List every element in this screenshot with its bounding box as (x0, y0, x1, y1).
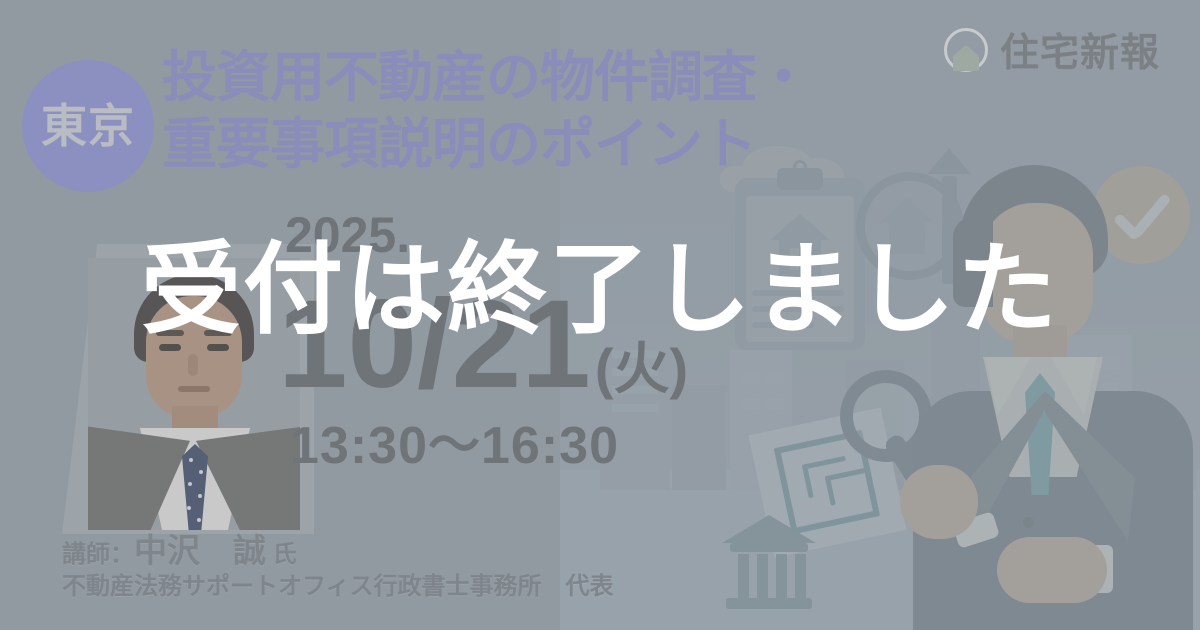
pentagon-in-circle-icon (944, 28, 988, 72)
registration-closed-notice: 受付は終了しました (0, 238, 1200, 343)
brand-logo-text: 住宅新報 (1000, 22, 1160, 78)
businessman-hand (997, 537, 1107, 603)
bank-building-icon (776, 554, 787, 598)
businessman-button (1023, 517, 1034, 528)
speaker-name: 中沢 誠 (134, 532, 266, 569)
bank-building-icon (726, 598, 812, 609)
building-window (766, 372, 782, 384)
seminar-banner: 東京 投資用不動産の物件調査・ 重要事項説明のポイント 2025. 10/21 … (0, 0, 1200, 630)
businessman-hand (900, 465, 978, 539)
bank-building-icon (795, 554, 806, 598)
building-window (742, 398, 758, 410)
bank-building-icon (738, 554, 749, 598)
photo-mouth (178, 386, 210, 392)
bank-building-icon (722, 515, 816, 543)
bank-building-icon (730, 543, 808, 552)
region-badge-label: 東京 (41, 103, 135, 149)
title-line-1: 投資用不動産の物件調査・ (162, 44, 822, 111)
event-weekday: (火) (595, 341, 688, 407)
building-window (742, 372, 758, 384)
speaker-affiliation: 不動産法務サポートオフィス行政書士事務所 代表 (62, 574, 614, 601)
event-time: 13:30〜16:30 (290, 420, 619, 472)
region-badge: 東京 (22, 60, 154, 192)
photo-nose (188, 354, 198, 376)
page-title: 投資用不動産の物件調査・ 重要事項説明のポイント (162, 44, 822, 178)
speaker-honorific: 氏 (273, 541, 297, 568)
speaker-label: 講師： (62, 541, 134, 568)
bank-building-icon (757, 554, 768, 598)
building-window (766, 398, 782, 410)
speaker-info: 講師：中沢 誠 氏 不動産法務サポートオフィス行政書士事務所 代表 (62, 533, 614, 601)
title-line-2: 重要事項説明のポイント (162, 111, 822, 178)
pentagon-shape (953, 45, 979, 56)
brand-logo: 住宅新報 (944, 22, 1160, 78)
speaker-name-row: 講師：中沢 誠 氏 (62, 533, 614, 570)
